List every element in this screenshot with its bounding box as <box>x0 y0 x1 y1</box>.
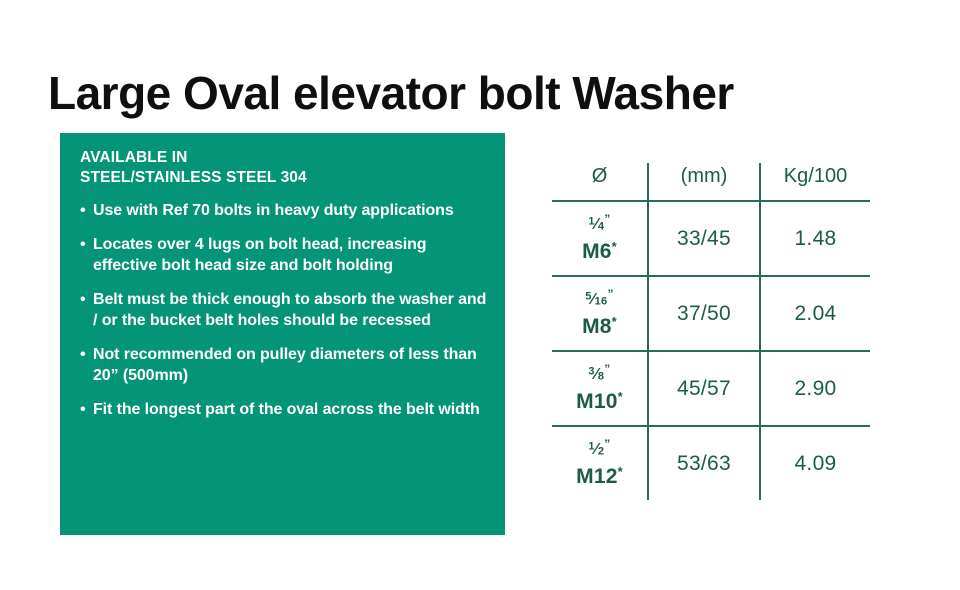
list-item: • Fit the longest part of the oval acros… <box>80 399 487 420</box>
metric-size: M8* <box>552 315 647 338</box>
cell-diameter: 3⁄8” M10* <box>552 351 648 426</box>
feature-text: Belt must be thick enough to absorb the … <box>93 291 486 329</box>
bullet-icon: • <box>80 289 86 310</box>
bullet-icon: • <box>80 344 86 365</box>
list-item: • Use with Ref 70 bolts in heavy duty ap… <box>80 200 487 221</box>
feature-text: Locates over 4 lugs on bolt head, increa… <box>93 236 426 274</box>
cell-mm: 33/45 <box>648 201 760 276</box>
list-item: • Not recommended on pulley diameters of… <box>80 344 487 386</box>
bullet-icon: • <box>80 200 86 221</box>
list-item: • Belt must be thick enough to absorb th… <box>80 289 487 331</box>
cell-mm: 37/50 <box>648 276 760 351</box>
column-header-diameter: Ø <box>552 163 648 201</box>
cell-kg: 4.09 <box>760 426 870 500</box>
metric-size: M6* <box>552 240 647 263</box>
cell-mm: 45/57 <box>648 351 760 426</box>
column-header-mm: (mm) <box>648 163 760 201</box>
imperial-size: 1⁄4” <box>552 213 647 234</box>
cell-diameter: 1⁄4” M6* <box>552 201 648 276</box>
imperial-size: 3⁄8” <box>552 363 647 384</box>
imperial-size: 5⁄16” <box>552 288 647 309</box>
bullet-icon: • <box>80 234 86 255</box>
metric-size: M10* <box>552 390 647 413</box>
feature-list: • Use with Ref 70 bolts in heavy duty ap… <box>80 200 487 420</box>
imperial-size: 1⁄2” <box>552 438 647 459</box>
feature-text: Not recommended on pulley diameters of l… <box>93 346 477 384</box>
availability-heading: AVAILABLE IN STEEL/STAINLESS STEEL 304 <box>80 148 487 187</box>
table-row: 3⁄8” M10* 45/57 2.90 <box>552 351 870 426</box>
table-row: 5⁄16” M8* 37/50 2.04 <box>552 276 870 351</box>
page-title: Large Oval elevator bolt Washer <box>48 67 928 119</box>
cell-kg: 2.90 <box>760 351 870 426</box>
feature-text: Use with Ref 70 bolts in heavy duty appl… <box>93 202 454 219</box>
cell-mm: 53/63 <box>648 426 760 500</box>
cell-diameter: 1⁄2” M12* <box>552 426 648 500</box>
feature-text: Fit the longest part of the oval across … <box>93 401 480 418</box>
cell-diameter: 5⁄16” M8* <box>552 276 648 351</box>
table-header-row: Ø (mm) Kg/100 <box>552 163 870 201</box>
table-row: 1⁄2” M12* 53/63 4.09 <box>552 426 870 500</box>
cell-kg: 1.48 <box>760 201 870 276</box>
table-row: 1⁄4” M6* 33/45 1.48 <box>552 201 870 276</box>
metric-size: M12* <box>552 465 647 488</box>
cell-kg: 2.04 <box>760 276 870 351</box>
specification-table: Ø (mm) Kg/100 1⁄4” M6* 33/45 1.48 5⁄16” … <box>552 163 870 481</box>
product-features-panel: AVAILABLE IN STEEL/STAINLESS STEEL 304 •… <box>60 133 505 535</box>
list-item: • Locates over 4 lugs on bolt head, incr… <box>80 234 487 276</box>
column-header-kg: Kg/100 <box>760 163 870 201</box>
bullet-icon: • <box>80 399 86 420</box>
